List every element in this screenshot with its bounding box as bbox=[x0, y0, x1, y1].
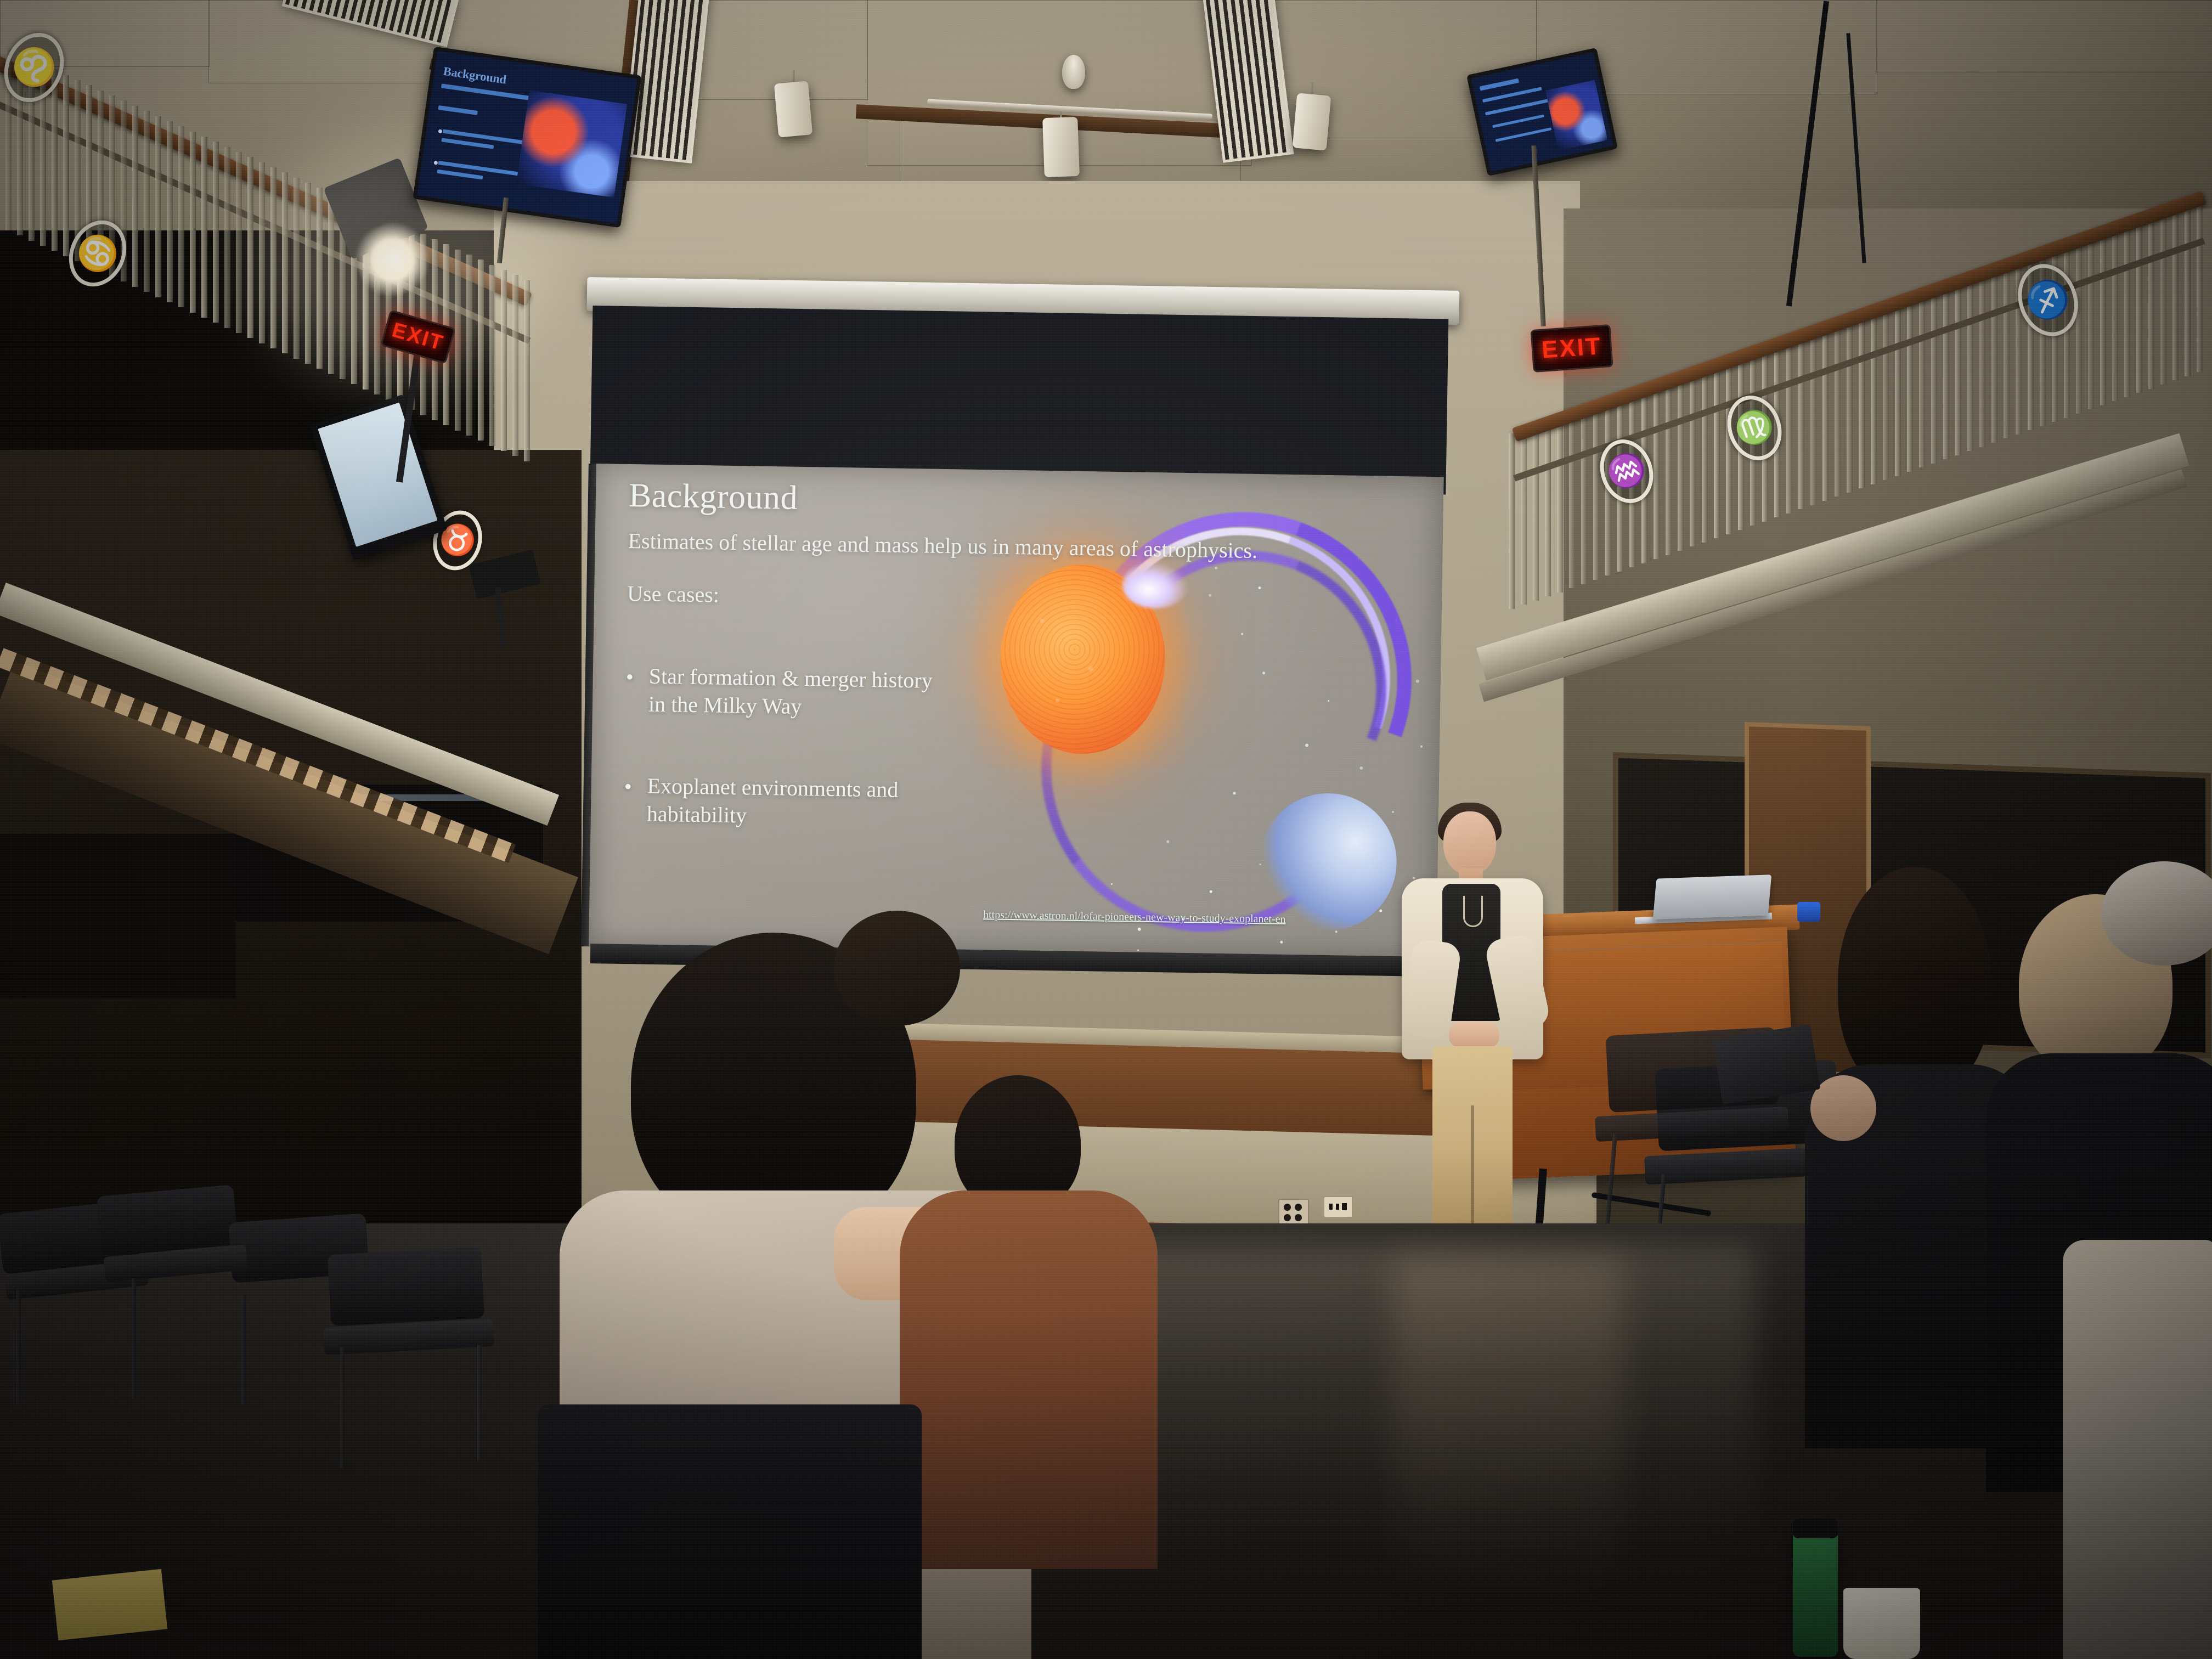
star-dot bbox=[1379, 910, 1382, 912]
baluster bbox=[2160, 209, 2166, 385]
paper-on-seat[interactable] bbox=[52, 1569, 167, 1640]
monitor-slide-title: Background bbox=[442, 64, 507, 87]
baluster bbox=[1666, 380, 1672, 555]
baluster bbox=[489, 265, 495, 446]
baluster bbox=[1943, 284, 1949, 459]
baluster bbox=[155, 116, 161, 297]
monitor-screen: Background bbox=[417, 51, 637, 224]
baluster bbox=[270, 167, 276, 348]
baluster bbox=[1883, 304, 1889, 480]
baluster bbox=[1859, 313, 1865, 488]
sprinkler-head bbox=[1062, 55, 1085, 89]
audience-member-grey bbox=[2090, 861, 2212, 1092]
slide-surface: Background Estimates of stellar age and … bbox=[589, 464, 1444, 960]
baluster bbox=[2112, 225, 2118, 401]
baluster bbox=[259, 162, 265, 343]
baluster bbox=[1786, 338, 1792, 513]
baluster bbox=[1690, 371, 1696, 546]
baluster bbox=[1810, 330, 1816, 505]
baluster bbox=[2076, 238, 2082, 414]
baluster bbox=[1581, 409, 1587, 584]
lecture-hall-photo: ♌ ♋ ♉ ♒ ♍ ♐ EXIT EXIT bbox=[0, 0, 2212, 1659]
baluster bbox=[190, 132, 196, 313]
baluster bbox=[1955, 280, 1961, 455]
audience-member-far-right bbox=[2063, 1240, 2212, 1659]
bottle-cap[interactable] bbox=[1793, 1519, 1838, 1538]
baluster bbox=[524, 280, 530, 461]
baluster bbox=[201, 137, 207, 318]
baluster bbox=[1991, 267, 1997, 443]
baluster bbox=[1557, 417, 1563, 592]
baluster bbox=[478, 259, 484, 441]
baluster bbox=[501, 270, 507, 451]
green-water-bottle[interactable] bbox=[1793, 1531, 1838, 1657]
baluster bbox=[1533, 425, 1539, 601]
audience-arm-skin bbox=[1810, 1075, 1876, 1141]
exit-sign-label: EXIT bbox=[1541, 332, 1602, 364]
baluster bbox=[1798, 334, 1804, 509]
exit-sign-right: EXIT bbox=[1530, 324, 1613, 373]
baluster bbox=[236, 152, 242, 333]
baluster bbox=[2148, 213, 2154, 389]
baluster bbox=[132, 106, 138, 287]
baluster bbox=[144, 111, 150, 292]
baluster bbox=[1678, 375, 1684, 551]
audience-member-rust bbox=[889, 1075, 1174, 1569]
baluster bbox=[52, 70, 58, 251]
presenter-hands bbox=[1449, 1022, 1499, 1048]
wall-panel bbox=[0, 834, 236, 998]
baluster bbox=[213, 142, 219, 323]
trouser-seam bbox=[1471, 1105, 1474, 1227]
downlight bbox=[1042, 117, 1080, 177]
baluster bbox=[1521, 429, 1527, 605]
baluster bbox=[1654, 383, 1660, 559]
baluster bbox=[466, 255, 472, 436]
baluster bbox=[305, 183, 311, 364]
laptop[interactable] bbox=[1653, 874, 1771, 919]
slide-bullet-2: • Exoplanet environments and habitabilit… bbox=[623, 771, 898, 832]
baluster bbox=[2136, 217, 2142, 393]
baluster bbox=[1714, 363, 1720, 538]
star-dot bbox=[1335, 930, 1338, 933]
zodiac-symbol: ♍ bbox=[1730, 404, 1779, 452]
presenter-necklace bbox=[1463, 896, 1483, 927]
baluster bbox=[2088, 234, 2094, 409]
presenter bbox=[1385, 798, 1561, 1259]
star-dot bbox=[1416, 680, 1419, 683]
star-dot bbox=[1280, 941, 1283, 944]
baluster bbox=[2124, 222, 2130, 397]
star-dot bbox=[1138, 928, 1141, 931]
bullet-line-2: habitability bbox=[623, 799, 747, 830]
zodiac-symbol: ♋ bbox=[70, 227, 125, 280]
exit-sign-label: EXIT bbox=[390, 318, 447, 356]
baluster bbox=[2100, 230, 2106, 405]
zodiac-symbol: ♌ bbox=[5, 39, 63, 96]
bullet-marker: • bbox=[625, 663, 634, 691]
star-dot bbox=[1420, 746, 1423, 748]
baluster bbox=[455, 250, 461, 431]
projection-screen: Background Estimates of stellar age and … bbox=[587, 277, 1459, 1001]
baluster bbox=[1702, 367, 1708, 543]
baluster bbox=[2197, 196, 2203, 372]
audience-hair-bun bbox=[834, 911, 960, 1026]
baluster bbox=[1931, 288, 1937, 464]
baluster bbox=[317, 188, 323, 369]
star-exoplanet-graphic bbox=[973, 530, 1435, 954]
slide-usecases-label: Use cases: bbox=[627, 580, 719, 608]
baluster bbox=[178, 126, 184, 307]
baluster bbox=[282, 172, 288, 353]
baluster bbox=[2004, 263, 2010, 438]
baluster bbox=[1919, 292, 1925, 467]
baluster bbox=[1509, 433, 1515, 609]
baluster bbox=[328, 193, 334, 374]
baluster bbox=[1593, 404, 1599, 580]
foreground-chair[interactable] bbox=[538, 1404, 922, 1659]
downlight bbox=[1293, 93, 1331, 150]
baluster bbox=[2185, 201, 2191, 376]
bullet-line-1: Exoplanet environments and bbox=[624, 771, 898, 804]
floor-reflection-podium bbox=[1393, 1256, 1624, 1596]
downlight bbox=[774, 81, 812, 137]
presenter-head bbox=[1443, 811, 1496, 875]
baluster bbox=[1907, 296, 1913, 472]
baluster bbox=[167, 121, 173, 302]
wall-data-jack[interactable] bbox=[1323, 1196, 1353, 1218]
baluster bbox=[247, 157, 253, 338]
slide-title: Background bbox=[628, 476, 798, 518]
bullet-line-2: in the Milky Way bbox=[625, 690, 802, 720]
baluster bbox=[512, 275, 518, 456]
baluster bbox=[294, 178, 300, 359]
baluster bbox=[1967, 275, 1973, 451]
bullet-marker: • bbox=[624, 772, 632, 800]
baluster bbox=[224, 147, 230, 328]
baluster bbox=[1835, 321, 1841, 496]
slide-bullet-1: • Star formation & merger history in the… bbox=[625, 662, 933, 723]
baluster bbox=[63, 75, 69, 256]
monitor-screen bbox=[1471, 52, 1613, 172]
baluster bbox=[1822, 325, 1829, 501]
bullet-line-1: Star formation & merger history bbox=[625, 662, 933, 695]
baluster bbox=[1895, 301, 1901, 476]
baluster bbox=[1979, 272, 1985, 447]
baluster bbox=[1569, 413, 1575, 588]
paper-cup[interactable] bbox=[1843, 1588, 1920, 1659]
baluster bbox=[1545, 421, 1551, 596]
zodiac-symbol: ♐ bbox=[2020, 273, 2076, 328]
zodiac-symbol: ♒ bbox=[1602, 447, 1651, 495]
star-dot bbox=[1137, 950, 1139, 951]
baluster bbox=[1871, 309, 1877, 484]
baluster bbox=[1726, 359, 1732, 534]
baluster bbox=[1847, 317, 1853, 493]
ceiling-monitor-left: Background bbox=[413, 47, 641, 228]
baluster bbox=[2172, 205, 2179, 380]
